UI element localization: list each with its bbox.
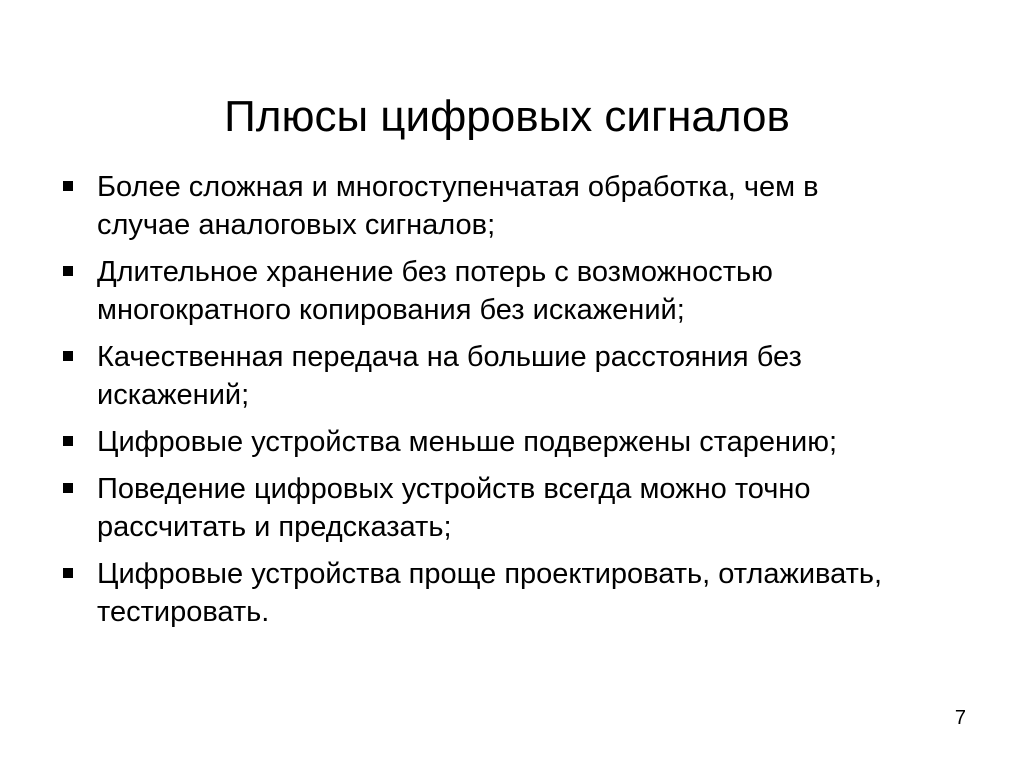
list-item: Цифровые устройства меньше подвержены ст… <box>58 423 988 461</box>
square-bullet-icon <box>63 351 73 361</box>
square-bullet-icon <box>63 436 73 446</box>
square-bullet-icon <box>63 483 73 493</box>
page-number: 7 <box>955 707 966 729</box>
list-item-text: Цифровые устройства меньше подвержены ст… <box>97 423 977 461</box>
list-item: Качественная передача на большие расстоя… <box>58 338 988 414</box>
square-bullet-icon <box>63 266 73 276</box>
list-item: Более сложная и многоступенчатая обработ… <box>58 168 988 244</box>
list-item-text: Более сложная и многоступенчатая обработ… <box>97 168 892 244</box>
list-item: Поведение цифровых устройств всегда можн… <box>58 470 988 546</box>
list-item-text: Поведение цифровых устройств всегда можн… <box>97 470 887 546</box>
list-item: Длительное хранение без потерь с возможн… <box>58 253 988 329</box>
presentation-slide: Плюсы цифровых сигналов Более сложная и … <box>0 0 1024 767</box>
square-bullet-icon <box>63 181 73 191</box>
list-item-text: Длительное хранение без потерь с возможн… <box>97 253 872 329</box>
bullet-list: Более сложная и многоступенчатая обработ… <box>58 168 988 640</box>
square-bullet-icon <box>63 568 73 578</box>
list-item: Цифровые устройства проще проектировать,… <box>58 555 988 631</box>
page-title: Плюсы цифровых сигналов <box>0 91 1014 143</box>
list-item-text: Цифровые устройства проще проектировать,… <box>97 555 977 631</box>
list-item-text: Качественная передача на большие расстоя… <box>97 338 887 414</box>
